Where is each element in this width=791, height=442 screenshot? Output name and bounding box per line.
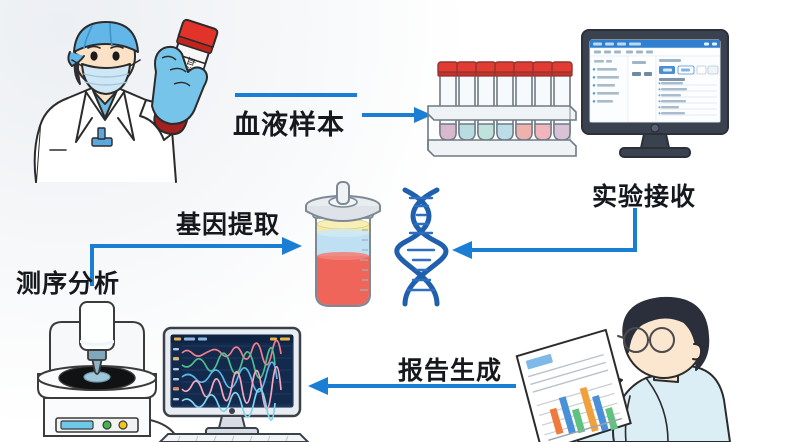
illustration-lims-monitor [580, 28, 730, 162]
arrow-lab-to-extraction [450, 208, 650, 264]
label-sequencing-analysis: 测序分析 [16, 264, 120, 300]
illustration-waveform-monitor [158, 326, 314, 442]
illustration-dna-helix [395, 188, 447, 306]
arrow-extraction-to-sequencing [88, 232, 302, 288]
label-blood-sample: 血液样本 [233, 103, 345, 142]
flow-diagram-canvas: 血液样本 血液样本 [0, 0, 791, 442]
arrow-sample-to-lab [362, 104, 432, 126]
illustration-nurse-holding-blood-tube: 血液样本 [6, 14, 246, 184]
illustration-centrifuge-vessel [302, 180, 384, 310]
accent-rule-blood-sample [235, 93, 357, 97]
arrow-report-to-sequencing [306, 375, 516, 397]
illustration-test-tube-rack [424, 54, 584, 164]
illustration-doctor-reading-report [518, 296, 791, 442]
illustration-sequencer-instrument [26, 300, 166, 442]
